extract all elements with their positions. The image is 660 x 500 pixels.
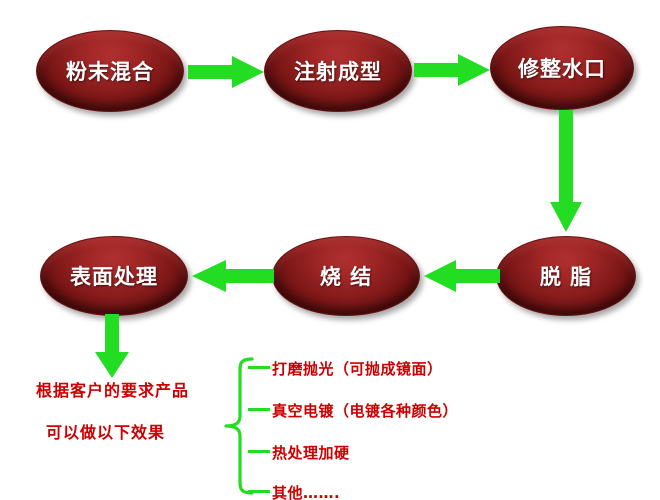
option-leader-3 [248, 450, 270, 454]
option-label-1: 打磨抛光（可抛成镜面） [272, 358, 443, 379]
arrow-node2-to-node3 [414, 52, 492, 88]
caption-line-1: 根据客户的要求产品 [36, 377, 189, 401]
process-node-5[interactable]: 烧 结 [272, 236, 420, 316]
process-node-6-label: 表面处理 [70, 261, 158, 291]
option-label-2: 真空电镀（电镀各种颜色） [272, 400, 458, 421]
diagram-canvas: 粉末混合 注射成型 修整水口 脱 脂 烧 结 表面处理 [0, 0, 660, 500]
process-node-5-label: 烧 结 [320, 261, 372, 291]
process-node-3-label: 修整水口 [518, 53, 606, 83]
process-node-3[interactable]: 修整水口 [490, 26, 634, 110]
process-node-1-label: 粉末混合 [66, 56, 154, 86]
caption-line-2: 可以做以下效果 [46, 419, 165, 443]
arrow-node3-to-node4 [548, 110, 584, 234]
arrow-node6-to-caption [92, 314, 138, 380]
process-node-4[interactable]: 脱 脂 [496, 236, 636, 316]
option-label-4: 其他……. [272, 482, 340, 500]
option-leader-1 [248, 366, 270, 370]
arrow-node4-to-node5 [420, 258, 500, 294]
option-label-3: 热处理加硬 [272, 442, 350, 463]
options-brace [222, 356, 256, 496]
option-leader-4 [248, 490, 270, 494]
arrow-node1-to-node2 [188, 54, 266, 90]
option-leader-2 [248, 408, 270, 412]
process-node-2-label: 注射成型 [294, 56, 382, 86]
process-node-6[interactable]: 表面处理 [40, 236, 188, 316]
process-node-2[interactable]: 注射成型 [264, 30, 412, 112]
arrow-node5-to-node6 [186, 258, 274, 294]
process-node-1[interactable]: 粉末混合 [36, 30, 184, 112]
process-node-4-label: 脱 脂 [540, 261, 592, 291]
